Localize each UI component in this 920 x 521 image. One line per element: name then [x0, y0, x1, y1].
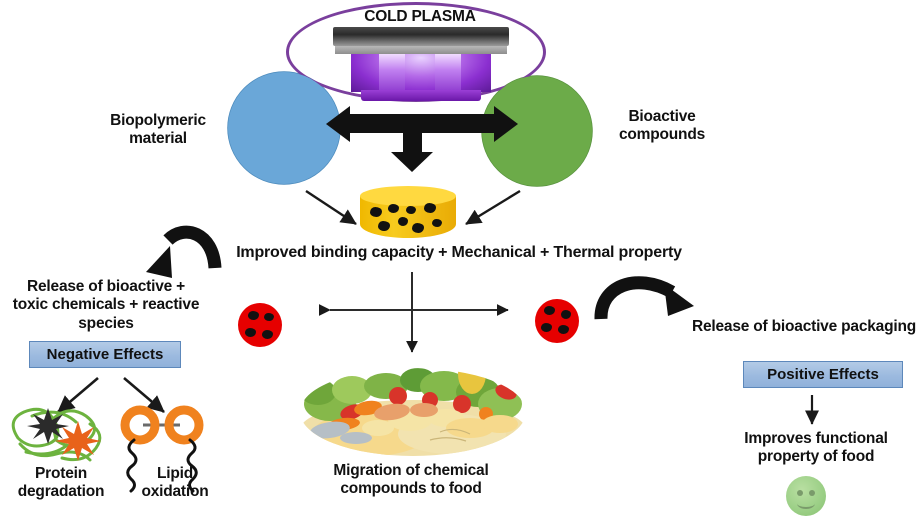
arrow-bioactive-to-film	[466, 191, 520, 224]
curved-arrow-to-negative	[146, 232, 215, 278]
lipid-oxidation-label: Lipid oxidation	[120, 465, 230, 502]
release-toxic-line2: toxic chemicals + reactive	[0, 296, 212, 314]
arrow-biopolymer-to-film	[306, 191, 356, 224]
protein-degradation-line2: degradation	[2, 483, 120, 501]
release-toxic-caption: Release of bioactive + toxic chemicals +…	[0, 278, 212, 333]
plasma-electrode-underside	[335, 46, 507, 54]
curved-arrow-to-positive	[601, 283, 694, 319]
protein-degradation-line1: Protein	[2, 465, 120, 483]
protein-degradation-label: Protein degradation	[2, 465, 120, 502]
center-cross-arrows	[330, 272, 508, 352]
biopolymeric-material-line1: Biopolymeric	[92, 112, 224, 130]
plasma-electrode-plate	[333, 27, 509, 46]
biopolymeric-material-line2: material	[92, 130, 224, 148]
green-smiley-face-icon	[786, 476, 826, 516]
improves-functional-property-label: Improves functional property of food	[716, 430, 916, 467]
plasma-device-icon	[333, 27, 509, 102]
plasma-glow-foot	[361, 90, 481, 101]
improves-functional-line1: Improves functional	[716, 430, 916, 448]
positive-effects-badge: Positive Effects	[743, 361, 903, 388]
bidirectional-arrow-head-right	[494, 106, 518, 142]
film-cylinder-icon	[360, 186, 456, 242]
protein-degradation-icon	[13, 408, 101, 461]
release-toxic-line1: Release of bioactive +	[0, 278, 212, 296]
arrow-to-protein-degradation	[58, 378, 98, 412]
release-toxic-line3: species	[0, 315, 212, 333]
migration-caption: Migration of chemical compounds to food	[302, 462, 520, 499]
migration-line1: Migration of chemical	[302, 462, 520, 480]
arrow-to-lipid-oxidation	[124, 378, 164, 412]
lipid-oxidation-line2: oxidation	[120, 483, 230, 501]
migration-line2: compounds to food	[302, 480, 520, 498]
negative-effects-badge: Negative Effects	[29, 341, 181, 368]
bioactive-compounds-line1: Bioactive	[598, 108, 726, 126]
bidirectional-arrow-bar	[348, 114, 496, 133]
plasma-glow-base	[351, 54, 491, 92]
release-bioactive-packaging-caption: Release of bioactive packaging	[686, 318, 920, 336]
improves-functional-line2: property of food	[716, 448, 916, 466]
burst-core	[535, 299, 579, 343]
cold-plasma-title: COLD PLASMA	[330, 8, 510, 26]
reactive-species-burst-left	[217, 282, 303, 368]
food-pile-image	[300, 333, 526, 460]
diagram-canvas: COLD PLASMA Biopolymeric material Bioact…	[0, 0, 920, 521]
smiley-mouth	[797, 498, 815, 509]
down-arrow-stem	[403, 130, 422, 154]
biopolymer-circle-icon	[228, 72, 340, 184]
improved-properties-caption: Improved binding capacity + Mechanical +…	[224, 244, 694, 263]
reactive-species-burst-right	[514, 278, 600, 364]
bioactive-compounds-label: Bioactive compounds	[598, 108, 726, 145]
biopolymeric-material-label: Biopolymeric material	[92, 112, 224, 149]
smiley-eye-right	[809, 490, 815, 496]
down-arrow-head	[391, 152, 433, 172]
cylinder-top	[360, 186, 456, 206]
burst-core	[238, 303, 282, 347]
lipid-oxidation-line1: Lipid	[120, 465, 230, 483]
smiley-eye-left	[797, 490, 803, 496]
bidirectional-arrow-head-left	[326, 106, 350, 142]
bioactive-compounds-line2: compounds	[598, 126, 726, 144]
